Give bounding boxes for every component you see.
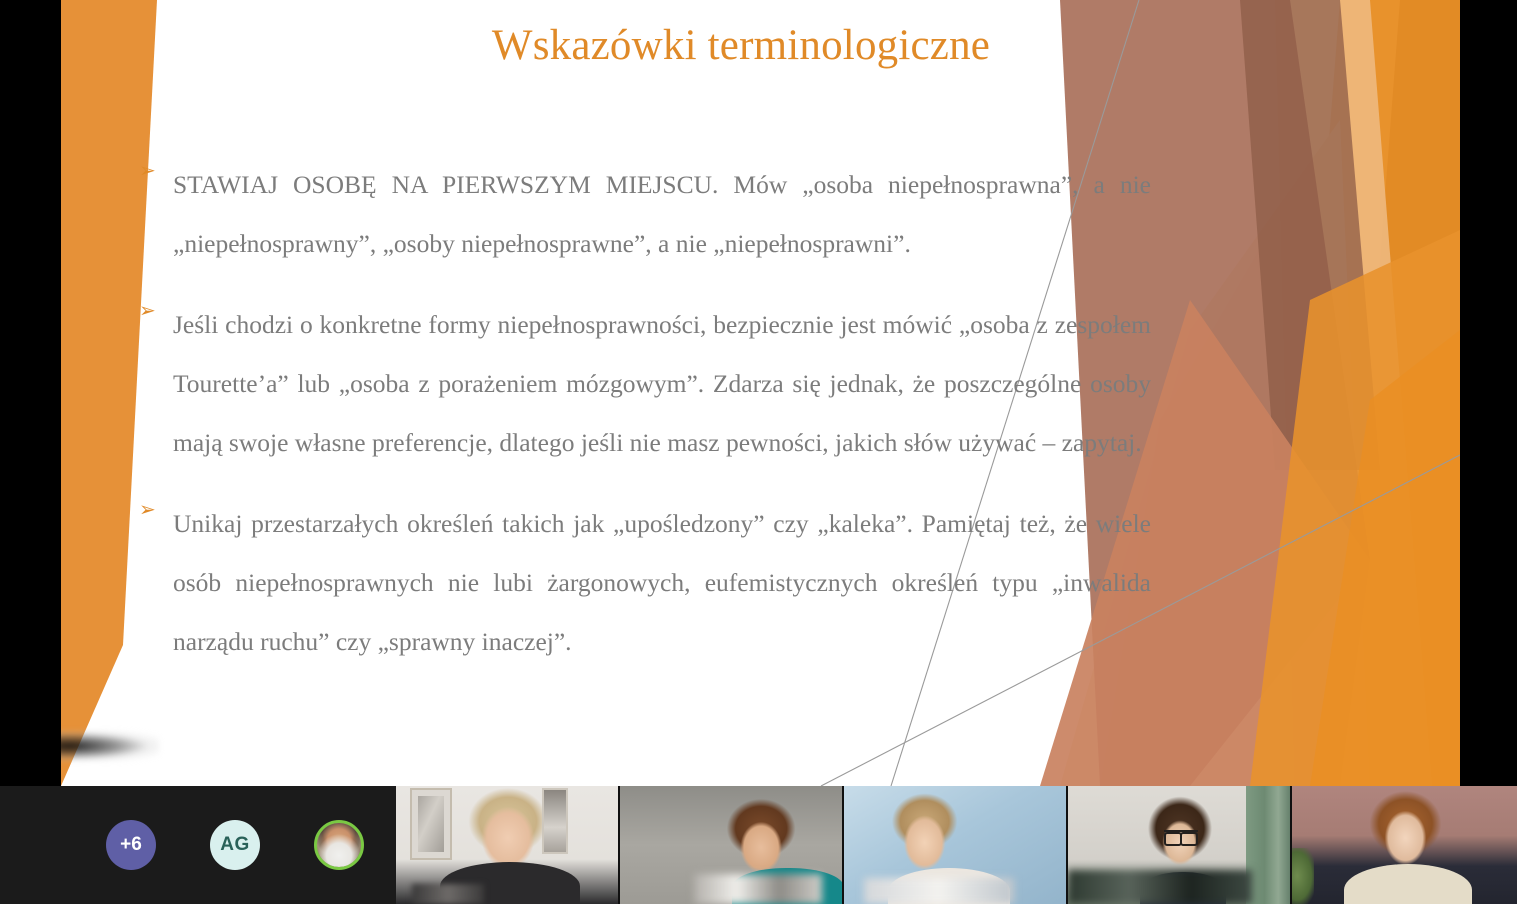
video-tile-4[interactable]: [1068, 786, 1292, 904]
list-item-text: Jeśli chodzi o konkretne formy niepełnos…: [173, 295, 1151, 472]
list-item: ➢ Jeśli chodzi o konkretne formy niepełn…: [131, 295, 1151, 472]
initials-avatar-label: AG: [220, 834, 250, 856]
background-plant: [1292, 848, 1314, 904]
arrow-bullet-icon: ➢: [139, 300, 161, 322]
meeting-presentation-window: Wskazówki terminologiczne ➢ STAWIAJ OSOB…: [0, 0, 1517, 904]
list-item: ➢ STAWIAJ OSOBĘ NA PIERWSZYM MIEJSCU. Mó…: [131, 155, 1151, 273]
list-item-text: Unikaj przestarzałych określeń takich ja…: [173, 494, 1151, 671]
shared-screen-stage[interactable]: Wskazówki terminologiczne ➢ STAWIAJ OSOB…: [0, 0, 1517, 786]
video-tile-4-feed: [1068, 786, 1292, 904]
blurred-name-label: [1068, 870, 1252, 904]
video-tile-1[interactable]: [396, 786, 620, 904]
overflow-count-avatar[interactable]: +6: [106, 820, 156, 870]
initials-avatar[interactable]: AG: [210, 820, 260, 870]
participant-filmstrip[interactable]: +6 AG: [0, 786, 1517, 904]
wall-picture-frame-secondary: [542, 788, 568, 854]
photo-avatar[interactable]: [314, 820, 364, 870]
eyeglasses-detail: [1164, 830, 1198, 841]
arrow-bullet-icon: ➢: [139, 160, 161, 182]
blurred-name-label: [694, 874, 822, 904]
list-item-text: STAWIAJ OSOBĘ NA PIERWSZYM MIEJSCU. Mów …: [173, 155, 1151, 273]
background-curtain: [1246, 786, 1292, 904]
overflow-count-label: +6: [120, 834, 142, 856]
video-tile-3-feed: [844, 786, 1068, 904]
list-item: ➢ Unikaj przestarzałych określeń takich …: [131, 494, 1151, 671]
video-tile-2[interactable]: [620, 786, 844, 904]
wall-picture-frame: [410, 788, 452, 860]
slide-body: ➢ STAWIAJ OSOBĘ NA PIERWSZYM MIEJSCU. Mó…: [131, 155, 1151, 693]
video-tile-5-feed: [1292, 786, 1517, 904]
participant-torso: [1344, 864, 1472, 904]
video-tile-2-feed: [620, 786, 844, 904]
blurred-name-label: [412, 884, 484, 904]
arrow-bullet-icon: ➢: [139, 499, 161, 521]
video-tile-1-feed: [396, 786, 620, 904]
blurred-name-label: [864, 878, 1014, 904]
page-title: Wskazówki terminologiczne: [241, 22, 1241, 69]
presentation-slide[interactable]: Wskazówki terminologiczne ➢ STAWIAJ OSOB…: [61, 0, 1460, 786]
avatar-photo-image: [317, 823, 361, 867]
blurred-overlay-artifact: [61, 731, 159, 761]
video-tile-3[interactable]: [844, 786, 1068, 904]
avatar-group: +6 AG: [0, 786, 396, 904]
video-tile-5[interactable]: [1292, 786, 1517, 904]
